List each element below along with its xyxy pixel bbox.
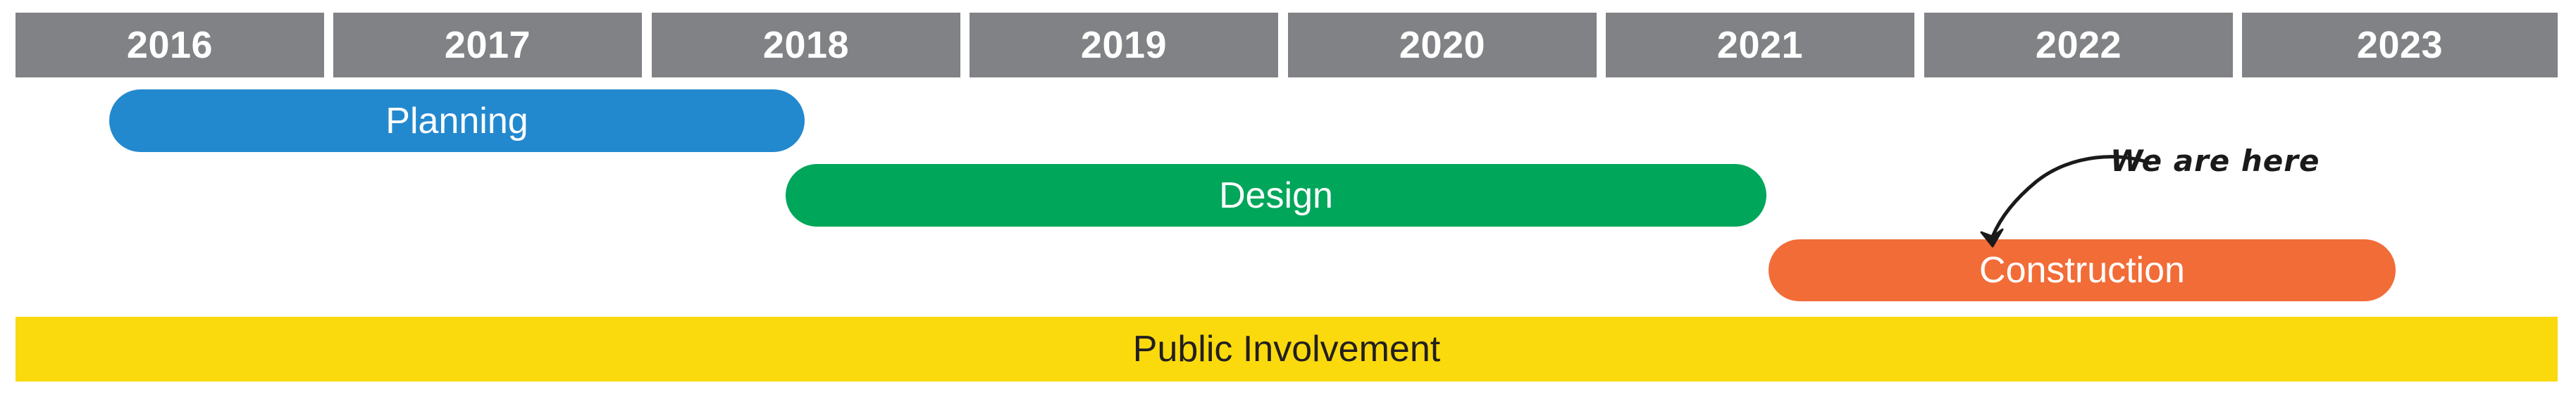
year-label: 2016 xyxy=(127,26,213,64)
project-timeline-chart: 20162017201820192020202120222023 Plannin… xyxy=(0,0,2576,397)
year-cell-2020: 2020 xyxy=(1288,13,1597,77)
year-axis: 20162017201820192020202120222023 xyxy=(16,13,2558,77)
phase-bar-planning[interactable]: Planning xyxy=(109,89,805,152)
year-label: 2020 xyxy=(1399,26,1485,64)
year-cell-2022: 2022 xyxy=(1924,13,2233,77)
phase-bar-public-involvement[interactable]: Public Involvement xyxy=(16,317,2558,382)
year-cell-2021: 2021 xyxy=(1606,13,1914,77)
year-cell-2018: 2018 xyxy=(652,13,960,77)
year-cell-2019: 2019 xyxy=(970,13,1278,77)
year-label: 2022 xyxy=(2036,26,2122,64)
year-cell-2016: 2016 xyxy=(16,13,324,77)
year-label: 2019 xyxy=(1081,26,1167,64)
year-label: 2021 xyxy=(1717,26,1803,64)
phase-bar-design[interactable]: Design xyxy=(786,164,1766,227)
year-label: 2023 xyxy=(2357,26,2443,64)
year-cell-2023: 2023 xyxy=(2242,13,2558,77)
phase-label: Planning xyxy=(385,103,528,139)
phase-label: Construction xyxy=(1979,252,2185,289)
year-label: 2018 xyxy=(763,26,849,64)
year-cell-2017: 2017 xyxy=(333,13,642,77)
we-are-here-label: We are here xyxy=(2110,144,2320,178)
phase-bar-construction[interactable]: Construction xyxy=(1769,239,2396,301)
year-label: 2017 xyxy=(445,26,531,64)
we-are-here-annotation: We are here xyxy=(2110,138,2406,183)
phase-label: Design xyxy=(1219,177,1333,214)
phase-label: Public Involvement xyxy=(1133,331,1440,367)
